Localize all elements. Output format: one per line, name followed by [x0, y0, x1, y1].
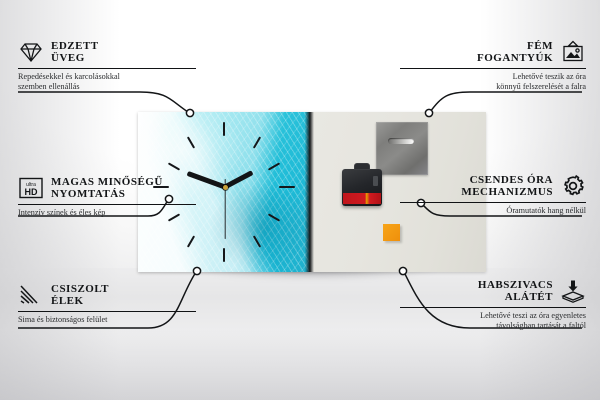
leader-dot-glass [186, 109, 193, 116]
callout-rule [18, 311, 196, 312]
callout-sub-line1: Lehetővé teszi az óra egyenletes [480, 311, 586, 320]
callout-rule [18, 204, 196, 205]
callout-title-line2: NYOMTATÁS [51, 188, 125, 200]
leader-glass [18, 92, 188, 112]
callout-sub-line1: Intenzív színek és éles kép [18, 208, 105, 217]
callout-rule [400, 307, 586, 308]
leader-dot-edges [193, 267, 200, 274]
callout-rule [18, 68, 196, 69]
callout-title-line1: CSISZOLT [51, 283, 109, 295]
callout-title-line2: ÉLEK [51, 295, 84, 307]
callout-sub-line1: Sima és biztonságos felület [18, 315, 107, 324]
callout-rule [400, 202, 586, 203]
callout-fem-foganytuk: FÉM FOGANTYÚK Lehetővé teszik az óra kön… [400, 40, 586, 93]
leader-handle [430, 92, 582, 112]
callout-sub-line2: könnyű felszerelését a falra [496, 82, 586, 91]
leader-dot-handle [425, 109, 432, 116]
callout-sub-line1: Repedésekkel és karcolásokkal [18, 72, 120, 81]
callout-title-line1: EDZETT [51, 40, 99, 52]
svg-text:HD: HD [25, 187, 38, 197]
picture-frame-hanger-icon [560, 40, 586, 64]
callout-title-line1: FÉM [527, 40, 553, 52]
callout-title-line2: FOGANTYÚK [477, 52, 553, 64]
diamond-icon [18, 40, 44, 64]
callout-title-line1: MAGAS MINŐSÉGŰ [51, 176, 163, 188]
callout-title-line2: ALÁTÉT [505, 291, 553, 303]
callout-title-line1: HABSZIVACS [478, 279, 553, 291]
callout-sub-line1: Óramutatók hang nélkül [506, 206, 586, 215]
polished-edges-icon [18, 283, 44, 307]
foam-pad-press-icon [560, 279, 586, 303]
callout-sub-line1: Lehetővé teszik az óra [513, 72, 586, 81]
callout-sub-line2: távolságban tartását a faltól [496, 321, 586, 330]
gear-icon [560, 174, 586, 198]
leader-dot-foam [399, 267, 406, 274]
clock-hands-hub [223, 185, 228, 190]
callout-csendes-ora-mechanizmus: CSENDES ÓRA MECHANIZMUS Óramutatók hang … [400, 174, 586, 216]
callout-title-line2: ÜVEG [51, 52, 85, 64]
callout-rule [400, 68, 586, 69]
callout-edzett-uveg: EDZETT ÜVEG Repedésekkel és karcolásokka… [18, 40, 196, 93]
callout-magas-minosegu-nyomtatas: ultra HD MAGAS MINŐSÉGŰ NYOMTATÁS Intenz… [18, 176, 196, 218]
callout-title-line1: CSENDES ÓRA [470, 174, 553, 186]
callout-csiszolt-elek: CSISZOLT ÉLEK Sima és biztonságos felüle… [18, 283, 196, 325]
callout-habszivacs-alatet: HABSZIVACS ALÁTÉT Lehetővé teszi az óra … [400, 279, 586, 332]
ultra-hd-icon: ultra HD [18, 176, 44, 200]
callout-sub-line2: szemben ellenállás [18, 82, 80, 91]
callout-title-line2: MECHANIZMUS [461, 186, 553, 198]
